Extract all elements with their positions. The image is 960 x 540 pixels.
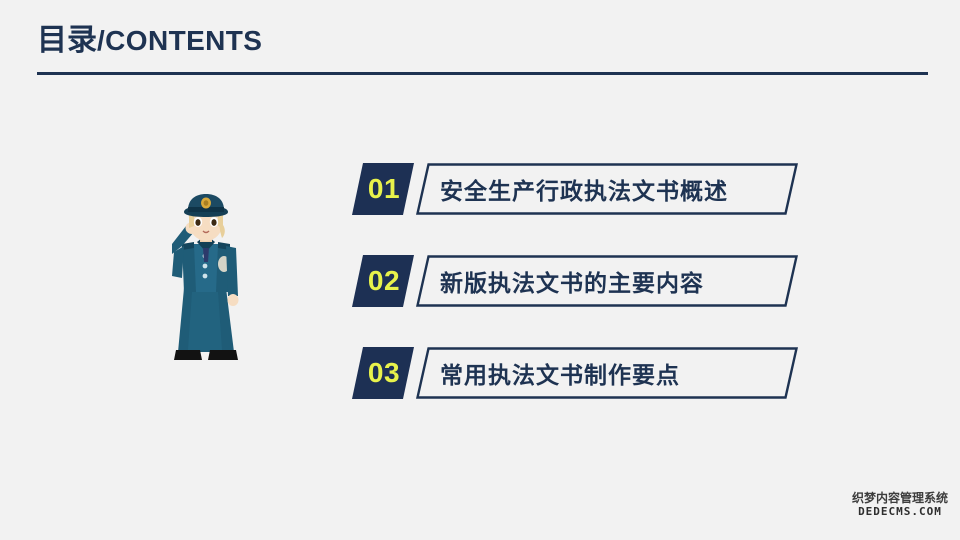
contents-label-shape-02: 新版执法文书的主要内容 — [416, 255, 798, 307]
contents-number-badge-01: 01 — [352, 163, 414, 215]
slide-header: 目录/CONTENTS — [37, 22, 928, 78]
page-title: 目录/CONTENTS — [37, 22, 928, 60]
watermark-zh: 织梦内容管理系统 — [845, 492, 955, 506]
contents-number-01: 01 — [368, 173, 400, 205]
slide-canvas: 目录/CONTENTS — [0, 0, 960, 540]
page-title-en: /CONTENTS — [97, 25, 262, 56]
contents-label-shape-01: 安全生产行政执法文书概述 — [416, 163, 798, 215]
watermark-en: DEDECMS.COM — [845, 506, 955, 519]
contents-label-shape-03: 常用执法文书制作要点 — [416, 347, 798, 399]
contents-item-03[interactable]: 03 常用执法文书制作要点 — [352, 347, 812, 399]
contents-number-03: 03 — [368, 357, 400, 389]
contents-list: 01 安全生产行政执法文书概述 02 — [352, 163, 812, 403]
contents-label-01: 安全生产行政执法文书概述 — [440, 163, 728, 215]
saluting-officer-icon — [148, 192, 264, 370]
page-title-zh: 目录 — [37, 24, 97, 57]
contents-label-02: 新版执法文书的主要内容 — [440, 255, 704, 307]
contents-number-badge-03: 03 — [352, 347, 414, 399]
contents-number-badge-02: 02 — [352, 255, 414, 307]
contents-label-03: 常用执法文书制作要点 — [440, 347, 680, 399]
contents-number-02: 02 — [368, 265, 400, 297]
watermark: 织梦内容管理系统 DEDECMS.COM — [845, 492, 955, 518]
contents-item-02[interactable]: 02 新版执法文书的主要内容 — [352, 255, 812, 307]
contents-item-01[interactable]: 01 安全生产行政执法文书概述 — [352, 163, 812, 215]
header-divider — [37, 72, 928, 75]
